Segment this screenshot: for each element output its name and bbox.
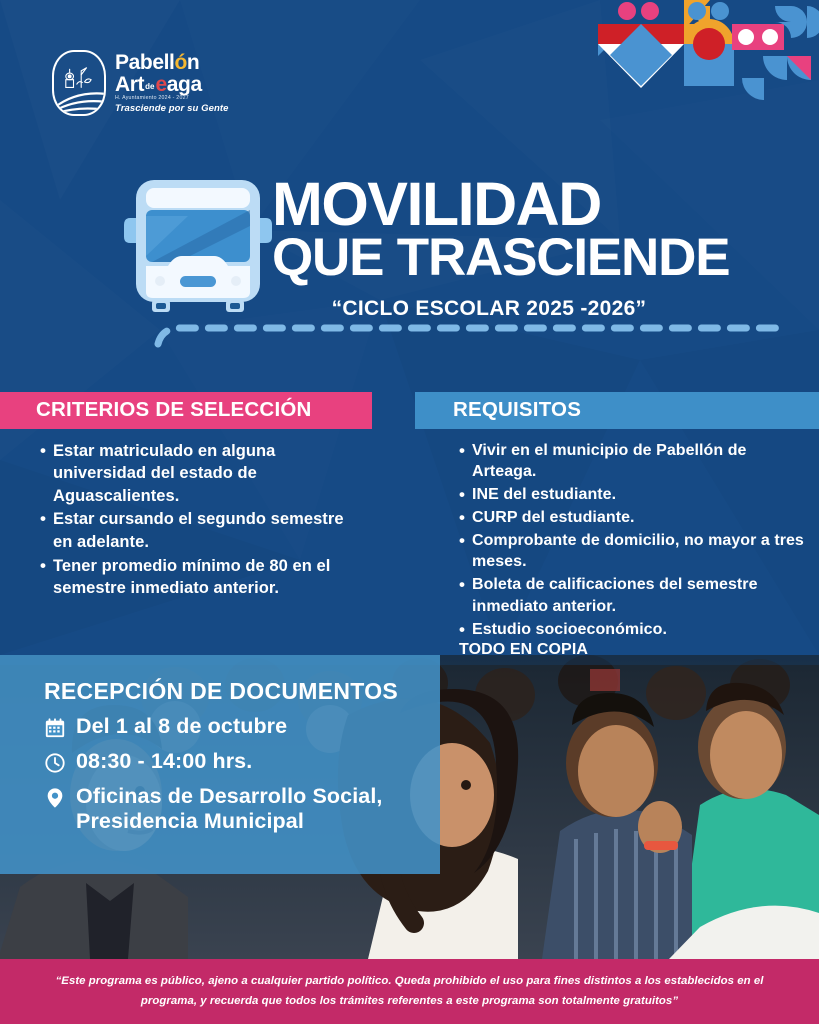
requirements-section: REQUISITOS Vivir en el municipio de Pabe…: [415, 392, 819, 659]
title-segment-cien: CIEN: [536, 228, 658, 287]
logo-administration: H. Ayuntamiento 2024 - 2027: [115, 96, 229, 101]
shield-hills-icon: [52, 89, 106, 116]
footer-disclaimer-bar: “Este programa es público, ajeno a cualq…: [0, 959, 819, 1024]
title-letter-r: R: [428, 233, 465, 283]
logo-accent-o: ó: [174, 51, 186, 74]
criteria-item: Estar cursando el segundo semestre en ad…: [40, 508, 358, 553]
criteria-list: Estar matriculado en alguna universidad …: [0, 440, 372, 600]
poster: Pabellón Artdeeaga H. Ayuntamiento 2024 …: [0, 0, 819, 1024]
pattern-shapes: [580, 0, 819, 112]
requirements-header: REQUISITOS: [415, 392, 819, 429]
logo-accent-e: e: [155, 73, 166, 96]
criteria-header: CRITERIOS DE SELECCIÓN: [0, 392, 372, 429]
requirements-item: Vivir en el municipio de Pabellón de Art…: [459, 440, 809, 484]
logo-name-line2: Artdeeaga: [115, 74, 229, 95]
logo-wordmark: Pabellón Artdeeaga H. Ayuntamiento 2024 …: [115, 52, 229, 114]
reception-date-text: Del 1 al 8 de octubre: [76, 714, 287, 739]
requirements-item: Boleta de calificaciones del semestre in…: [459, 574, 809, 618]
logo-tagline: Trasciende por su Gente: [115, 104, 229, 114]
bus-svg: [118, 170, 278, 320]
criteria-section: CRITERIOS DE SELECCIÓN Estar matriculado…: [0, 392, 372, 601]
requirements-list: Vivir en el municipio de Pabellón de Art…: [415, 440, 819, 641]
clock-icon: [44, 751, 66, 775]
municipal-shield-logo: [52, 50, 106, 116]
calendar-icon: [44, 716, 66, 740]
hero-title-block: MOVILIDAD QUE TRASCIENDE “CICLO ESCOLAR …: [272, 176, 712, 321]
requirements-item: Estudio socioeconómico.: [459, 619, 809, 641]
dashed-road-line: [150, 318, 790, 348]
hero-school-cycle: “CICLO ESCOLAR 2025 -2026”: [266, 297, 712, 321]
logo-name-line1: Pabellón: [115, 52, 229, 73]
requirements-item: CURP del estudiante.: [459, 507, 809, 529]
road-dashes: [150, 318, 790, 348]
requirements-item: Comprobante de domicilio, no mayor a tre…: [459, 530, 809, 574]
requirements-item: INE del estudiante.: [459, 484, 809, 506]
reception-location-text: Oficinas de Desarrollo Social, Presidenc…: [76, 784, 440, 834]
title-letter-e: E: [695, 228, 729, 287]
reception-panel: RECEPCIÓN DE DOCUMENTOS Del 1 al 8 de oc…: [0, 655, 440, 874]
title-letter-d: D: [658, 233, 695, 283]
reception-time-row: 08:30 - 14:00 hrs.: [0, 749, 440, 775]
title-letter-q: Q: [272, 233, 312, 283]
criteria-item: Tener promedio mínimo de 80 en el semest…: [40, 555, 358, 600]
logo-connector: de: [144, 82, 155, 91]
municipal-logo: Pabellón Artdeeaga H. Ayuntamiento 2024 …: [52, 50, 229, 116]
reception-date-row: Del 1 al 8 de octubre: [0, 714, 440, 740]
footer-disclaimer-text: “Este programa es público, ajeno a cualq…: [32, 972, 788, 1012]
shield-emblem-icon: [63, 62, 96, 93]
title-segment-as: AS: [465, 233, 536, 283]
hero-title-line1: MOVILIDAD: [272, 176, 712, 233]
title-segment-ue-t: UE T: [312, 228, 428, 287]
criteria-item: Estar matriculado en alguna universidad …: [40, 440, 358, 508]
hero-title-line2: QUE TRASCIENDE: [272, 233, 712, 283]
reception-header: RECEPCIÓN DE DOCUMENTOS: [0, 655, 440, 705]
reception-time-text: 08:30 - 14:00 hrs.: [76, 749, 252, 774]
decorative-geometric-pattern: [580, 0, 819, 112]
location-pin-icon: [44, 786, 66, 810]
bus-front-icon: [118, 170, 278, 320]
reception-location-row: Oficinas de Desarrollo Social, Presidenc…: [0, 784, 440, 834]
